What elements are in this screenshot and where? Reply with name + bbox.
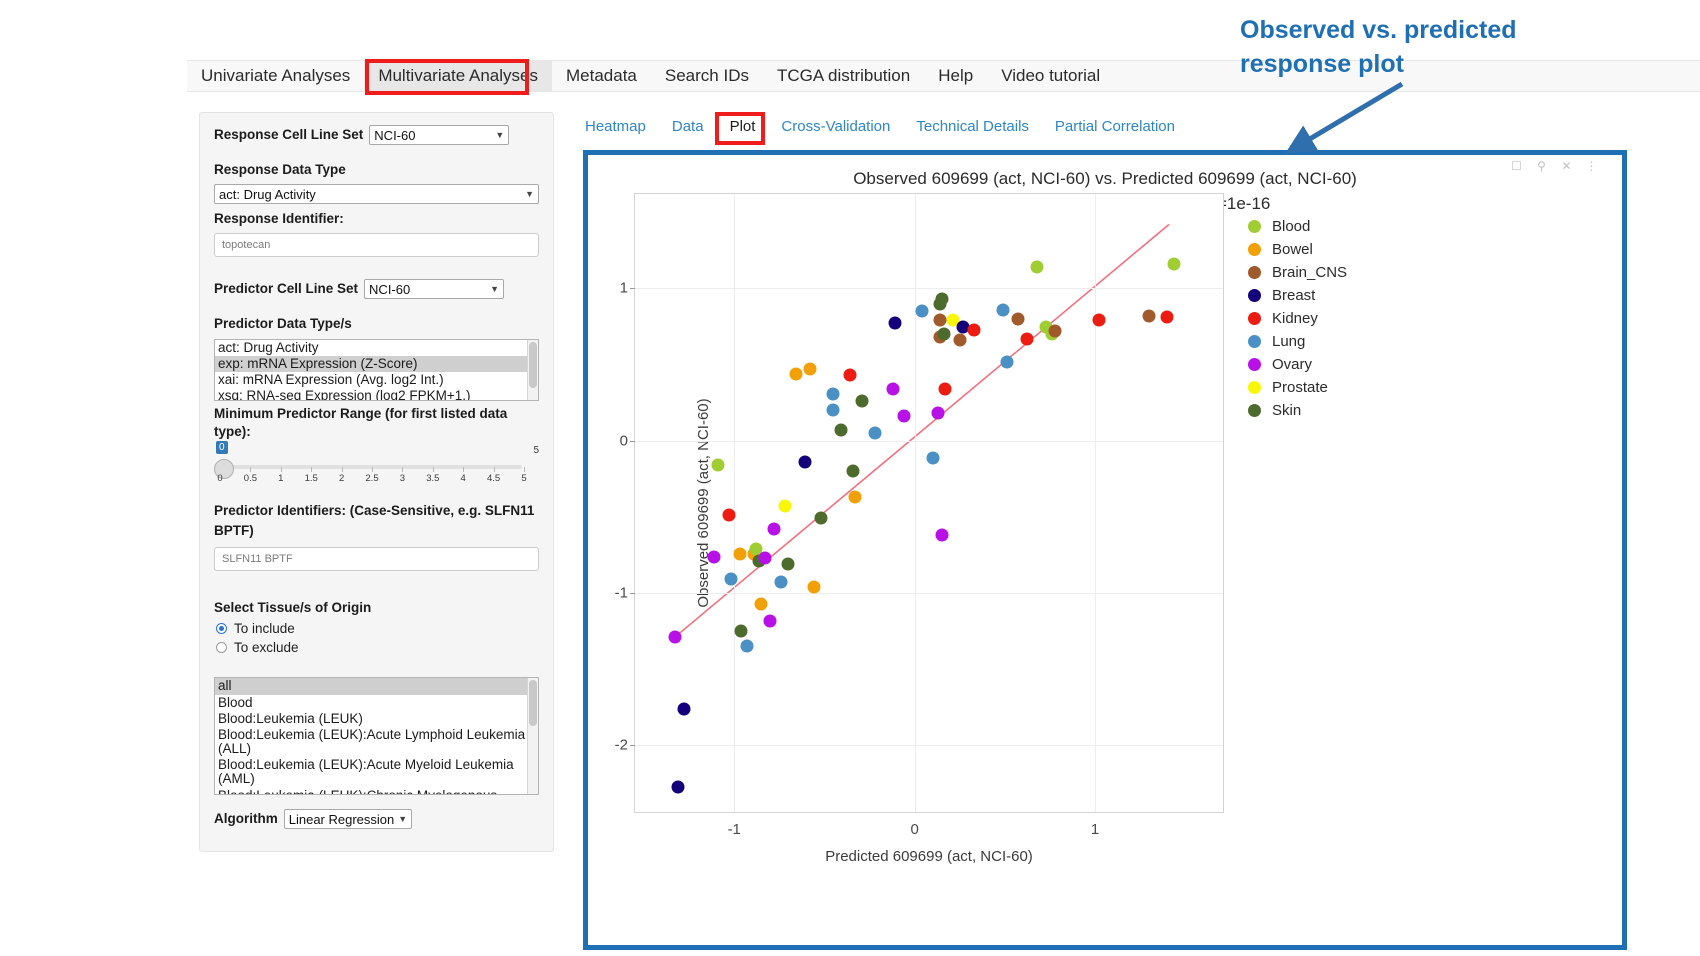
tissue-exclude-label: To exclude xyxy=(234,640,299,655)
legend-label: Breast xyxy=(1272,287,1315,304)
legend-item[interactable]: Skin xyxy=(1248,399,1448,422)
scatter-point[interactable] xyxy=(935,529,948,542)
scatter-point[interactable] xyxy=(735,625,748,638)
algorithm-label: Algorithm xyxy=(214,810,278,828)
response-data-type-select[interactable]: act: Drug Activity ▼ xyxy=(214,184,539,204)
legend-item[interactable]: Breast xyxy=(1248,284,1448,307)
legend-label: Skin xyxy=(1272,402,1301,419)
x-tick-label: 1 xyxy=(1091,821,1099,838)
gridline-vertical xyxy=(1095,194,1096,812)
scatter-point[interactable] xyxy=(935,293,948,306)
legend-color-dot xyxy=(1248,381,1261,394)
nav-item-univariate-analyses[interactable]: Univariate Analyses xyxy=(187,60,364,92)
scatter-point[interactable] xyxy=(897,410,910,423)
nav-item-multivariate-analyses[interactable]: Multivariate Analyses xyxy=(364,60,552,92)
scatter-point[interactable] xyxy=(758,552,771,565)
slider-tick-label: 3 xyxy=(400,473,405,484)
chevron-down-icon: ▼ xyxy=(495,130,504,140)
algorithm-select[interactable]: Linear Regression ▼ xyxy=(284,809,412,829)
legend-label: Kidney xyxy=(1272,310,1318,327)
response-data-type-label: Response Data Type xyxy=(214,161,539,179)
legend-label: Brain_CNS xyxy=(1272,264,1347,281)
tissue-exclude-radio-row[interactable]: To exclude xyxy=(216,640,539,655)
scatter-point[interactable] xyxy=(764,614,777,627)
plot-title: Observed 609699 (act, NCI-60) vs. Predic… xyxy=(588,167,1622,192)
scatter-point[interactable] xyxy=(1031,261,1044,274)
scatter-point[interactable] xyxy=(1092,314,1105,327)
predictor-data-type-option[interactable]: xai: mRNA Expression (Avg. log2 Int.) xyxy=(215,372,538,388)
predictor-data-type-listbox[interactable]: act: Drug Activityexp: mRNA Expression (… xyxy=(214,339,539,401)
scatter-point[interactable] xyxy=(856,395,869,408)
legend-label: Bowel xyxy=(1272,241,1313,258)
slider-tick-label: 4.5 xyxy=(487,473,500,484)
gridline-vertical xyxy=(734,194,735,812)
scatter-point[interactable] xyxy=(997,303,1010,316)
chevron-down-icon: ▼ xyxy=(525,189,534,199)
scatter-point[interactable] xyxy=(827,387,840,400)
scatter-point[interactable] xyxy=(778,500,791,513)
scatter-point[interactable] xyxy=(847,465,860,478)
response-cell-line-set-value: NCI-60 xyxy=(374,128,415,143)
legend-item[interactable]: Lung xyxy=(1248,330,1448,353)
slider-tick-label: 5 xyxy=(521,473,526,484)
tissue-include-radio[interactable] xyxy=(216,623,227,634)
predictor-data-type-scrollbar[interactable] xyxy=(527,340,538,400)
legend-item[interactable]: Bowel xyxy=(1248,238,1448,261)
legend-label: Lung xyxy=(1272,333,1305,350)
chevron-down-icon: ▼ xyxy=(490,284,499,294)
predictor-cell-line-set-label: Predictor Cell Line Set xyxy=(214,280,358,298)
tissue-include-label: To include xyxy=(234,621,295,636)
predictor-data-type-label: Predictor Data Type/s xyxy=(214,315,539,333)
scatter-point[interactable] xyxy=(798,456,811,469)
legend-color-dot xyxy=(1248,358,1261,371)
scatter-point[interactable] xyxy=(807,581,820,594)
slider-tick-label: 2 xyxy=(339,473,344,484)
subtab-cross-validation[interactable]: Cross-Validation xyxy=(781,118,890,135)
tissue-option[interactable]: Blood xyxy=(215,695,538,711)
scatter-point[interactable] xyxy=(939,382,952,395)
y-tick-mark xyxy=(630,441,635,442)
tissue-option[interactable]: Blood:Leukemia (LEUK):Acute Lymphoid Leu… xyxy=(215,727,538,757)
chevron-down-icon: ▼ xyxy=(398,814,407,824)
legend-color-dot xyxy=(1248,312,1261,325)
legend-color-dot xyxy=(1248,335,1261,348)
x-tick-label: -1 xyxy=(728,821,741,838)
min-predictor-range-slider[interactable]: 5 0 00.511.522.533.544.55 xyxy=(214,445,539,491)
tissue-option[interactable]: Blood:Leukemia (LEUK) xyxy=(215,711,538,727)
callout-arrow xyxy=(1280,78,1410,158)
y-tick-label: -1 xyxy=(615,585,628,602)
regression-fit-line xyxy=(635,194,1223,812)
scatter-point[interactable] xyxy=(827,404,840,417)
legend-color-dot xyxy=(1248,266,1261,279)
y-tick-mark xyxy=(630,288,635,289)
tissue-exclude-radio[interactable] xyxy=(216,642,227,653)
callout-line-1: Observed vs. predicted xyxy=(1240,14,1570,48)
legend-item[interactable]: Brain_CNS xyxy=(1248,261,1448,284)
scatter-point[interactable] xyxy=(724,573,737,586)
scatter-point[interactable] xyxy=(887,382,900,395)
scatter-plot-axes: Observed 609699 (act, NCI-60) Predicted … xyxy=(634,193,1224,813)
scatter-point[interactable] xyxy=(740,640,753,653)
nav-item-help[interactable]: Help xyxy=(924,60,987,92)
tissue-option[interactable]: Blood:Leukemia (LEUK):Chronic Myelogenou… xyxy=(215,788,538,796)
predictor-data-type-option[interactable]: exp: mRNA Expression (Z-Score) xyxy=(215,356,538,372)
scatter-point[interactable] xyxy=(834,424,847,437)
tissue-option[interactable]: all xyxy=(215,678,538,694)
predictor-data-type-option[interactable]: xsq: RNA-seq Expression (log2 FPKM+1.) xyxy=(215,388,538,400)
scatter-point[interactable] xyxy=(937,328,950,341)
algorithm-value: Linear Regression xyxy=(289,812,395,827)
legend-item[interactable]: Kidney xyxy=(1248,307,1448,330)
tissue-include-radio-row[interactable]: To include xyxy=(216,621,539,636)
nav-item-search-ids[interactable]: Search IDs xyxy=(651,60,763,92)
predictor-data-type-option[interactable]: act: Drug Activity xyxy=(215,340,538,356)
predictor-cell-line-set-value: NCI-60 xyxy=(369,282,410,297)
scatter-point[interactable] xyxy=(1168,258,1181,271)
result-subtabs: HeatmapDataPlotCross-ValidationTechnical… xyxy=(585,112,1685,140)
tissue-legend: BloodBowelBrain_CNSBreastKidneyLungOvary… xyxy=(1248,215,1448,422)
gridline-horizontal xyxy=(635,288,1223,289)
legend-color-dot xyxy=(1248,220,1261,233)
legend-item[interactable]: Ovary xyxy=(1248,353,1448,376)
predictor-cell-line-set-select[interactable]: NCI-60 ▼ xyxy=(364,279,504,299)
scatter-point[interactable] xyxy=(677,702,690,715)
y-tick-mark xyxy=(630,593,635,594)
legend-color-dot xyxy=(1248,243,1261,256)
scatter-point[interactable] xyxy=(722,509,735,522)
scatter-point[interactable] xyxy=(789,367,802,380)
scatter-point[interactable] xyxy=(804,363,817,376)
scatter-point[interactable] xyxy=(668,631,681,644)
subtab-partial-correlation[interactable]: Partial Correlation xyxy=(1055,118,1175,135)
slider-tick-label: 0 xyxy=(217,473,222,484)
legend-color-dot xyxy=(1248,289,1261,302)
response-cell-line-set-select[interactable]: NCI-60 ▼ xyxy=(369,125,509,145)
tissue-scrollbar[interactable] xyxy=(527,678,538,794)
slider-tick-label: 2.5 xyxy=(365,473,378,484)
scatter-point[interactable] xyxy=(932,407,945,420)
response-identifier-input[interactable] xyxy=(214,233,539,257)
scatter-point[interactable] xyxy=(968,323,981,336)
gridline-vertical xyxy=(915,194,916,812)
legend-color-dot xyxy=(1248,404,1261,417)
scatter-point[interactable] xyxy=(888,317,901,330)
scatter-point[interactable] xyxy=(1000,355,1013,368)
tissue-option[interactable]: Blood:Leukemia (LEUK):Acute Myeloid Leuk… xyxy=(215,757,538,787)
response-identifier-label: Response Identifier: xyxy=(214,210,539,228)
slider-tick-label: 1 xyxy=(278,473,283,484)
slider-tick-label: 3.5 xyxy=(426,473,439,484)
scatter-point[interactable] xyxy=(775,576,788,589)
subtab-heatmap[interactable]: Heatmap xyxy=(585,118,646,135)
scatter-point[interactable] xyxy=(915,305,928,318)
predictor-identifiers-input[interactable] xyxy=(214,547,539,571)
scatter-point[interactable] xyxy=(849,491,862,504)
x-axis-label: Predicted 609699 (act, NCI-60) xyxy=(825,848,1033,865)
scatter-point[interactable] xyxy=(708,550,721,563)
scatter-point[interactable] xyxy=(733,547,746,560)
scatter-point[interactable] xyxy=(672,780,685,793)
scatter-point[interactable] xyxy=(843,369,856,382)
scatter-point[interactable] xyxy=(711,459,724,472)
callout-line-2: response plot xyxy=(1240,48,1570,82)
nav-item-tcga-distribution[interactable]: TCGA distribution xyxy=(763,60,924,92)
y-tick-label: 0 xyxy=(620,432,628,449)
slider-tick-label: 0.5 xyxy=(244,473,257,484)
slider-max-label: 5 xyxy=(533,445,539,456)
scatter-point[interactable] xyxy=(814,512,827,525)
slider-tick-label: 1.5 xyxy=(305,473,318,484)
slider-value-bubble: 0 xyxy=(216,441,228,454)
nav-item-video-tutorial[interactable]: Video tutorial xyxy=(987,60,1114,92)
callout-annotation: Observed vs. predicted response plot xyxy=(1240,14,1570,82)
tissue-listbox[interactable]: allBloodBlood:Leukemia (LEUK)Blood:Leuke… xyxy=(214,677,539,795)
gridline-horizontal xyxy=(635,593,1223,594)
gridline-horizontal xyxy=(635,745,1223,746)
scatter-point[interactable] xyxy=(926,451,939,464)
nav-item-metadata[interactable]: Metadata xyxy=(552,60,651,92)
scatter-point[interactable] xyxy=(1020,332,1033,345)
scatter-point[interactable] xyxy=(1049,325,1062,338)
scatter-point[interactable] xyxy=(1011,312,1024,325)
x-tick-label: 0 xyxy=(910,821,918,838)
legend-item[interactable]: Prostate xyxy=(1248,376,1448,399)
y-tick-label: -2 xyxy=(615,737,628,754)
scatter-point[interactable] xyxy=(1143,309,1156,322)
response-cell-line-set-label: Response Cell Line Set xyxy=(214,126,363,144)
scatter-point[interactable] xyxy=(868,427,881,440)
subtab-technical-details[interactable]: Technical Details xyxy=(916,118,1029,135)
scatter-point[interactable] xyxy=(953,334,966,347)
scatter-point[interactable] xyxy=(782,558,795,571)
scatter-point[interactable] xyxy=(1161,311,1174,324)
y-axis-label: Observed 609699 (act, NCI-60) xyxy=(695,398,712,607)
analysis-controls-panel: Response Cell Line Set NCI-60 ▼ Response… xyxy=(199,112,554,852)
legend-label: Ovary xyxy=(1272,356,1312,373)
legend-label: Prostate xyxy=(1272,379,1328,396)
predictor-identifiers-label: Predictor Identifiers: (Case-Sensitive, … xyxy=(214,501,539,540)
scatter-point[interactable] xyxy=(755,597,768,610)
response-data-type-value: act: Drug Activity xyxy=(219,187,316,202)
slider-scale-labels: 00.511.522.533.544.55 xyxy=(214,473,528,487)
y-tick-label: 1 xyxy=(620,280,628,297)
gridline-horizontal xyxy=(635,441,1223,442)
legend-item[interactable]: Blood xyxy=(1248,215,1448,238)
scatter-point[interactable] xyxy=(933,314,946,327)
y-tick-mark xyxy=(630,745,635,746)
subtab-data[interactable]: Data xyxy=(672,118,704,135)
slider-tick-label: 4 xyxy=(461,473,466,484)
subtab-plot[interactable]: Plot xyxy=(730,118,756,135)
min-predictor-range-label: Minimum Predictor Range (for first liste… xyxy=(214,405,539,441)
plot-card: ☐ ⚲ ✕ ⋮ Observed 609699 (act, NCI-60) vs… xyxy=(583,150,1627,950)
select-tissue-label: Select Tissue/s of Origin xyxy=(214,599,539,617)
scatter-point[interactable] xyxy=(767,523,780,536)
slider-tickmarks xyxy=(214,461,528,471)
legend-label: Blood xyxy=(1272,218,1310,235)
